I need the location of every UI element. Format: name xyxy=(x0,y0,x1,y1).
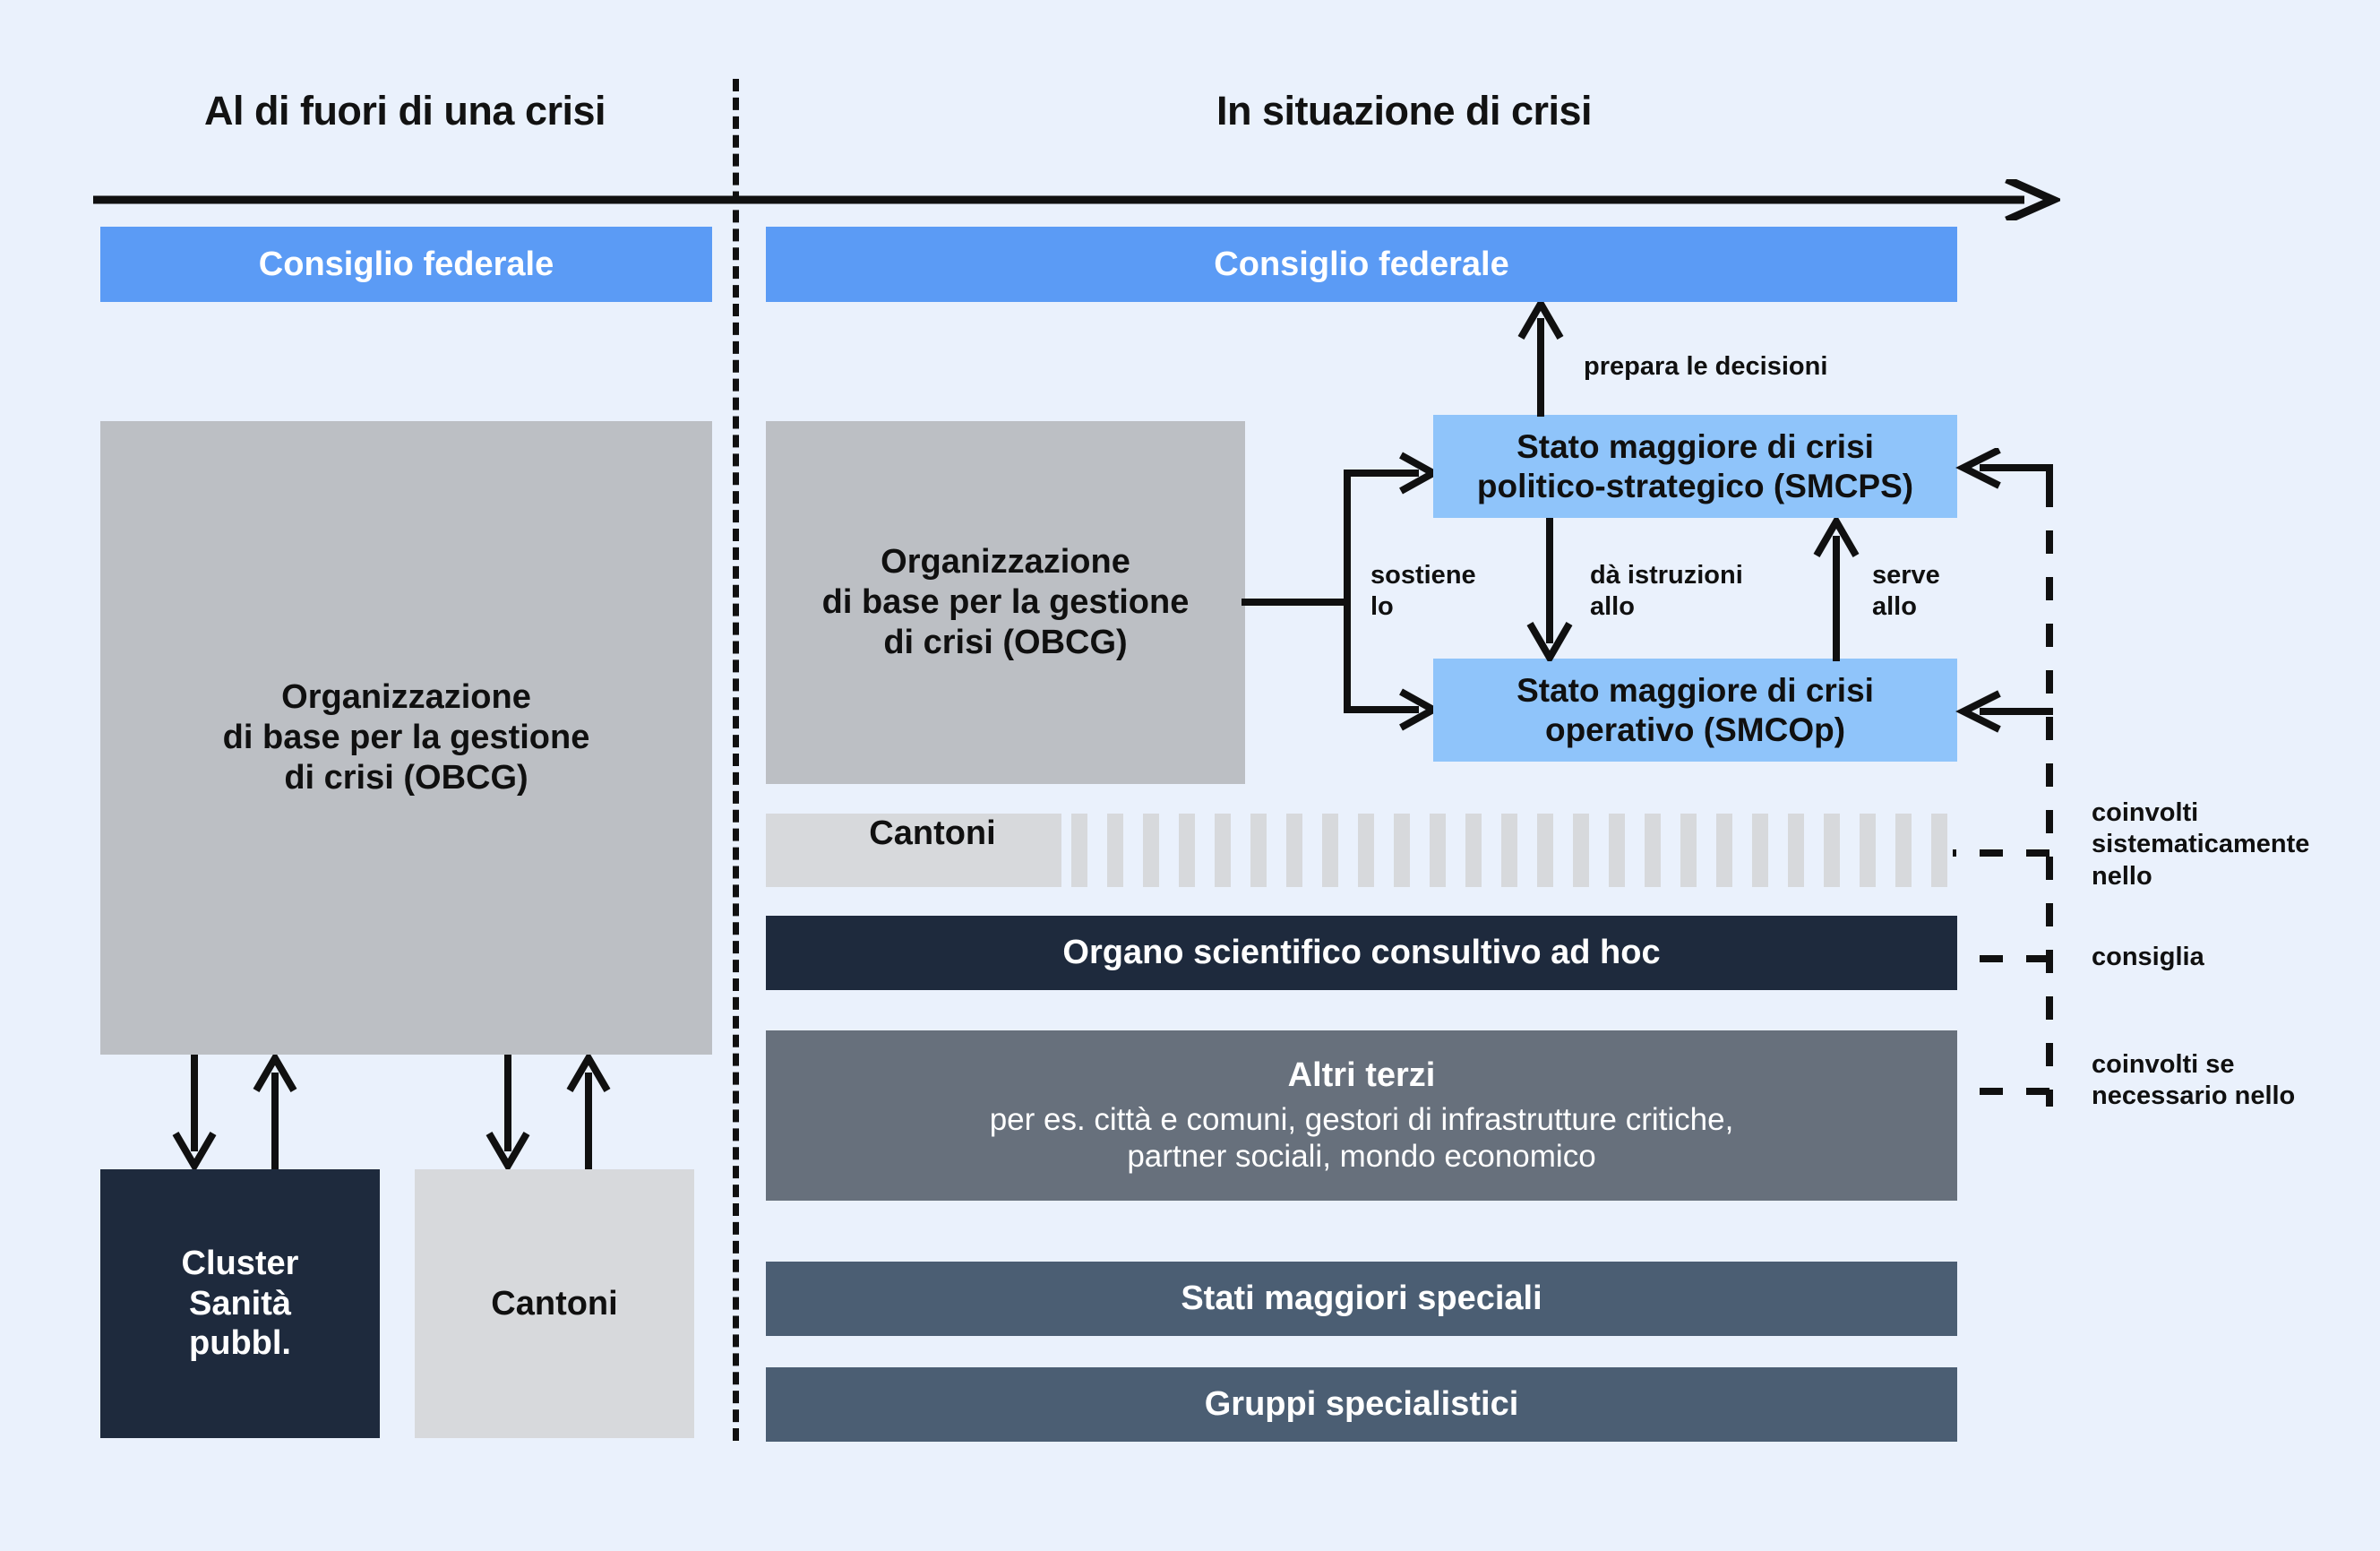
altri-terzi-box: Altri terzi per es. città e comuni, gest… xyxy=(766,1030,1957,1201)
side-label-coinvolti-sistematicamente: coinvolti sistematicamente nello xyxy=(2092,797,2378,892)
timeline-arrow xyxy=(90,179,2060,220)
right-cantoni-box: Cantoni xyxy=(766,814,1061,887)
left-arrow-group xyxy=(100,1055,718,1169)
right-obcg-box: Organizzazione di base per la gestione d… xyxy=(766,421,1245,784)
right-consiglio-federale-box: Consiglio federale xyxy=(766,227,1957,302)
right-obcg-line2: di base per la gestione xyxy=(822,582,1190,623)
arrow-da-istruzioni-allo xyxy=(1523,518,1577,661)
smcop-box: Stato maggiore di crisi operativo (SMCOp… xyxy=(1433,659,1957,762)
label-sostiene-lo: sostiene lo xyxy=(1370,560,1514,623)
smcop-line1: Stato maggiore di crisi xyxy=(1516,671,1874,711)
left-obcg-line1: Organizzazione xyxy=(281,677,531,718)
heading-right: In situazione di crisi xyxy=(757,88,2051,134)
side-connector-bus xyxy=(1953,448,2132,1120)
left-obcg-line2: di base per la gestione xyxy=(223,718,590,758)
organo-scientifico-label: Organo scientifico consultivo ad hoc xyxy=(1062,933,1660,973)
organo-scientifico-box: Organo scientifico consultivo ad hoc xyxy=(766,916,1957,990)
left-consiglio-federale-label: Consiglio federale xyxy=(259,245,554,285)
left-cluster-sanita-box: Cluster Sanità pubbl. xyxy=(100,1169,380,1438)
left-consiglio-federale-box: Consiglio federale xyxy=(100,227,712,302)
left-cantoni-box: Cantoni xyxy=(415,1169,694,1438)
cluster-line1: Cluster xyxy=(182,1244,299,1284)
gruppi-specialistici-box: Gruppi specialistici xyxy=(766,1367,1957,1442)
label-prepara-le-decisioni: prepara le decisioni xyxy=(1584,351,1960,383)
stati-maggiori-speciali-box: Stati maggiori speciali xyxy=(766,1262,1957,1336)
phase-divider xyxy=(733,79,739,1441)
altri-terzi-sub-line1: per es. città e comuni, gestori di infra… xyxy=(990,1101,1734,1138)
right-obcg-line3: di crisi (OBCG) xyxy=(883,623,1127,663)
heading-left: Al di fuori di una crisi xyxy=(100,88,709,134)
arrow-prepara-le-decisioni xyxy=(1514,302,1568,417)
left-cantoni-label: Cantoni xyxy=(491,1284,617,1324)
altri-terzi-sub-line2: partner sociali, mondo economico xyxy=(1127,1138,1595,1175)
right-cantoni-label: Cantoni xyxy=(869,814,995,854)
cluster-line3: pubbl. xyxy=(189,1323,291,1364)
left-obcg-box: Organizzazione di base per la gestione d… xyxy=(100,421,712,1055)
right-obcg-line1: Organizzazione xyxy=(881,542,1130,582)
left-obcg-line3: di crisi (OBCG) xyxy=(284,758,528,798)
smcps-line1: Stato maggiore di crisi xyxy=(1516,427,1874,467)
side-label-consiglia: consiglia xyxy=(2092,942,2378,973)
label-da-istruzioni-allo: dà istruzioni allo xyxy=(1590,560,1805,623)
altri-terzi-title: Altri terzi xyxy=(1288,1056,1436,1096)
smcop-line2: operativo (SMCOp) xyxy=(1545,711,1845,750)
cantoni-hatch-strip xyxy=(1071,814,1957,887)
right-consiglio-federale-label: Consiglio federale xyxy=(1214,245,1508,285)
side-label-coinvolti-se-necessario: coinvolti se necessario nello xyxy=(2092,1049,2378,1113)
stati-maggiori-speciali-label: Stati maggiori speciali xyxy=(1181,1279,1542,1319)
diagram-canvas: Al di fuori di una crisi In situazione d… xyxy=(0,0,2380,1551)
cluster-line2: Sanità xyxy=(189,1284,291,1324)
gruppi-specialistici-label: Gruppi specialistici xyxy=(1205,1384,1519,1425)
smcps-line2: politico-strategico (SMCPS) xyxy=(1477,467,1913,506)
smcps-box: Stato maggiore di crisi politico-strateg… xyxy=(1433,415,1957,518)
arrow-serve-allo xyxy=(1809,518,1863,661)
